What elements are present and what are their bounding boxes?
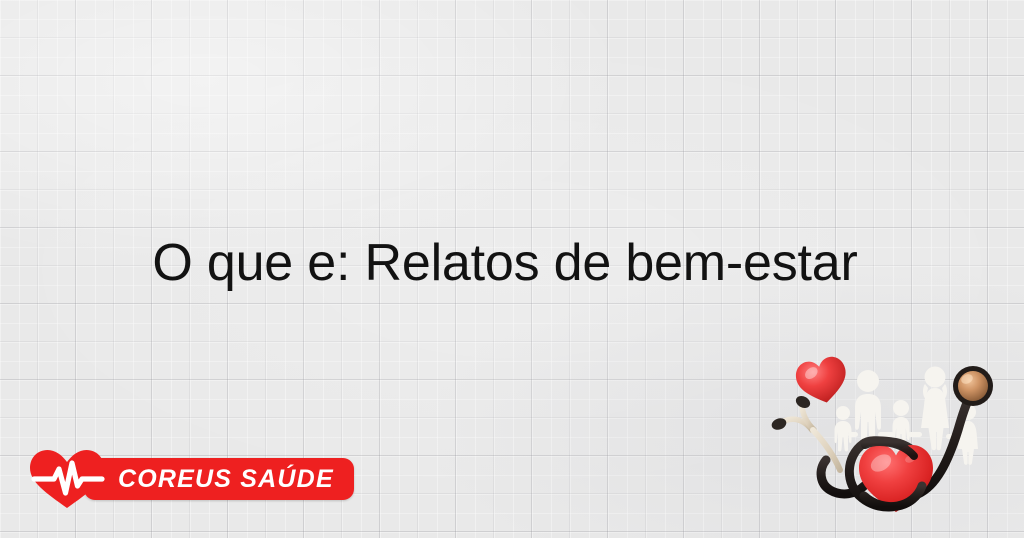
stethoscope-chestpiece	[953, 366, 993, 406]
health-family-stethoscope-illustration	[768, 344, 1018, 534]
brand-pill: COREUS SAÚDE	[84, 458, 354, 500]
heart-pulse-icon	[28, 448, 106, 510]
page-title: O que e: Relatos de bem-estar	[0, 234, 1024, 292]
slide-canvas: O que e: Relatos de bem-estar COREUS SAÚ…	[0, 0, 1024, 538]
brand-name: COREUS SAÚDE	[118, 467, 334, 492]
brand-logo: COREUS SAÚDE	[28, 448, 354, 510]
